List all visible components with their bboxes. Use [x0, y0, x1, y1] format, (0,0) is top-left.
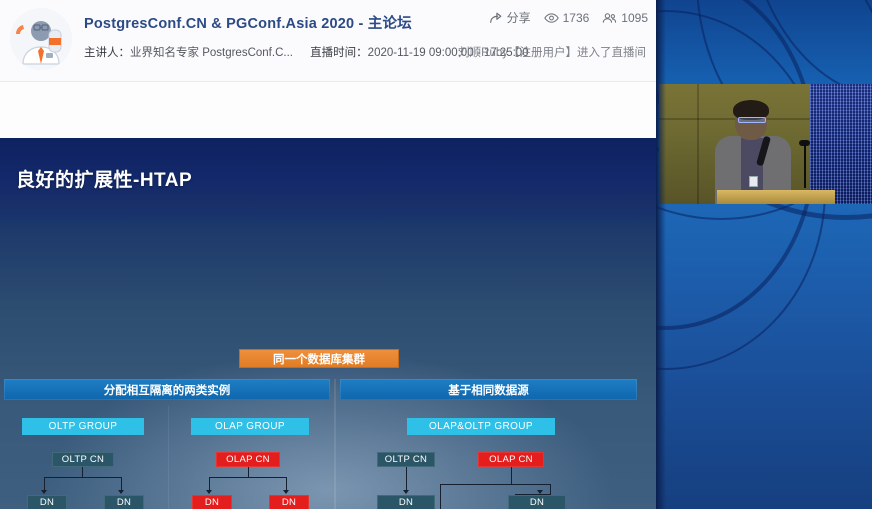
node-dn: DN — [377, 495, 435, 509]
speaker-badge — [749, 176, 758, 187]
speaker-value: 业界知名专家 PostgresConf.C... — [130, 47, 293, 59]
cluster-label: 同一个数据库集群 — [239, 349, 399, 368]
users-icon — [602, 11, 617, 25]
node-dn: DN — [27, 495, 67, 509]
panel-divider — [334, 379, 336, 509]
stream-side-panel — [656, 0, 872, 509]
share-button[interactable]: 分享 — [489, 9, 531, 26]
arrow-icon — [206, 490, 212, 494]
arrow-icon — [403, 490, 409, 494]
connector — [209, 477, 287, 478]
group-label-oltp: OLTP GROUP — [22, 418, 144, 435]
view-count-value: 1736 — [563, 11, 590, 25]
arrow-icon — [41, 490, 47, 494]
presentation-slide[interactable]: 良好的扩展性-HTAP 同一个数据库集群 分配相互隔离的两类实例 基于相同数据源… — [0, 138, 656, 509]
node-oltp-cn: OLTP CN — [377, 452, 435, 467]
speaker-video[interactable] — [659, 84, 872, 204]
avatar — [10, 8, 72, 70]
node-oltp-cn: OLTP CN — [52, 452, 114, 467]
share-icon — [489, 11, 503, 25]
panel-left-edge — [656, 0, 666, 509]
connector — [440, 484, 550, 485]
enter-room-message: 刘顺Ruby【注册用户】进入了直播间 — [458, 44, 646, 60]
header-stats: 分享 1736 1095 — [483, 9, 648, 26]
header-gap — [0, 82, 656, 138]
connector — [44, 477, 122, 478]
arrow-icon — [118, 490, 124, 494]
podium — [717, 190, 835, 204]
stream-header: PostgresConf.CN & PGConf.Asia 2020 - 主论坛… — [0, 0, 656, 82]
wall-seam — [697, 84, 699, 204]
panel-subdivider — [168, 406, 169, 509]
user-count-value: 1095 — [621, 11, 648, 25]
section-header-right: 基于相同数据源 — [340, 379, 637, 400]
node-olap-cn: OLAP CN — [478, 452, 544, 467]
live-stream-page: PostgresConf.CN & PGConf.Asia 2020 - 主论坛… — [0, 0, 872, 509]
time-label: 直播时间： — [310, 47, 368, 59]
section-header-left: 分配相互隔离的两类实例 — [4, 379, 330, 400]
connector — [82, 467, 83, 477]
view-count: 1736 — [544, 11, 590, 25]
glasses-icon — [738, 117, 766, 123]
slide-title: 良好的扩展性-HTAP — [16, 165, 192, 192]
node-olap-cn: OLAP CN — [216, 452, 280, 467]
share-label: 分享 — [507, 9, 531, 26]
node-dn: DN — [192, 495, 232, 509]
arrow-icon — [283, 490, 289, 494]
node-dn: DN — [104, 495, 144, 509]
page-title: PostgresConf.CN & PGConf.Asia 2020 - 主论坛 — [84, 12, 412, 33]
mic-stand — [804, 142, 806, 188]
node-dn: DN — [269, 495, 309, 509]
group-label-olap-oltp: OLAP&OLTP GROUP — [407, 418, 555, 435]
led-screen — [810, 84, 872, 204]
node-dn: DN — [508, 495, 566, 509]
speaker-label: 主讲人： — [84, 47, 130, 59]
user-count: 1095 — [602, 11, 648, 25]
connector — [511, 467, 512, 484]
eye-icon — [544, 11, 559, 25]
connector — [440, 484, 441, 509]
group-label-olap: OLAP GROUP — [191, 418, 309, 435]
connector — [248, 467, 249, 477]
